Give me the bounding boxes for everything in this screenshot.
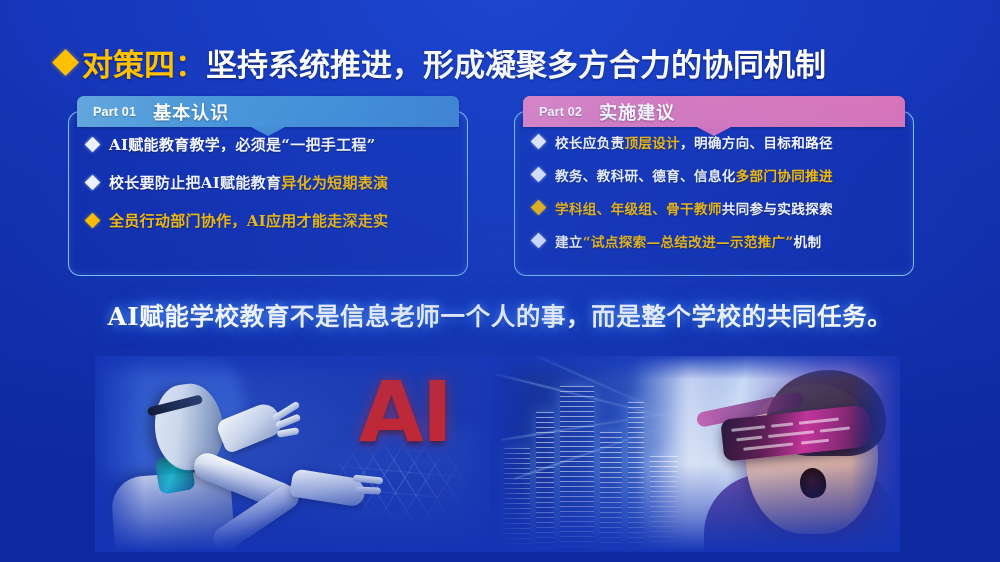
- bullet-text: AI赋能教育教学，必须是“一把手工程”: [109, 134, 376, 155]
- diamond-bullet-icon: [531, 167, 547, 183]
- part-title: 基本认识: [153, 99, 229, 125]
- panel-right-header: Part 02 实施建议: [523, 96, 905, 127]
- part-title: 实施建议: [599, 99, 675, 125]
- bullet-text-highlight: 全员行动部门协作，AI应用才能走深走实: [109, 210, 388, 231]
- header-notch-icon: [251, 127, 285, 136]
- diamond-bullet-icon: [531, 200, 547, 216]
- vr-photo-art: [490, 356, 900, 552]
- ai-overlay-text: AI: [359, 370, 451, 454]
- bullet-text-highlight: 学科组、年级组、骨干教师: [555, 198, 722, 218]
- diamond-bullet-icon: [531, 134, 547, 150]
- panel-left-header: Part 01 基本认识: [77, 96, 459, 127]
- photo-band: AI: [95, 356, 910, 552]
- bullet-text: 校长应负责: [555, 132, 624, 152]
- list-item: 建立 “试点探索—总结改进—示范推广” 机制: [533, 224, 905, 257]
- bullet-text-highlight: 顶层设计: [624, 132, 680, 152]
- robot-photo-art: AI: [95, 356, 505, 552]
- panel-basic-understanding: AI赋能教育教学，必须是“一把手工程” 校长要防止把AI赋能教育 异化为短期表演…: [68, 96, 468, 276]
- diamond-bullet-icon: [531, 233, 547, 249]
- title-gold-text: 对策四：: [82, 40, 206, 85]
- page-title: 对策四： 坚持系统推进，形成凝聚多方合力的协同机制: [56, 40, 826, 85]
- diamond-bullet-icon: [85, 136, 101, 152]
- robot-photo: AI: [95, 356, 505, 552]
- list-item: 全员行动部门协作，AI应用才能走深走实: [87, 201, 459, 239]
- title-white-text: 坚持系统推进，形成凝聚多方合力的协同机制: [206, 40, 826, 85]
- vr-photo: [490, 356, 900, 552]
- panel-left-bullet-list: AI赋能教育教学，必须是“一把手工程” 校长要防止把AI赋能教育 异化为短期表演…: [69, 112, 467, 275]
- bullet-text-highlight: 多部门协同推进: [736, 165, 833, 185]
- bullet-text: 教务、教科研、德育、信息化: [555, 165, 736, 185]
- bullet-text: 共同参与实践探索: [722, 198, 833, 218]
- panel-right-bullet-list: 校长应负责 顶层设计 ，明确方向、目标和路径 教务、教科研、德育、信息化 多部门…: [515, 112, 913, 275]
- tagline-text: AI赋能学校教育不是信息老师一个人的事，而是整个学校的共同任务。: [108, 302, 893, 331]
- bullet-text: 校长要防止把AI赋能教育: [109, 172, 281, 193]
- bullet-text: 机制: [794, 231, 822, 251]
- list-item: 校长要防止把AI赋能教育 异化为短期表演: [87, 163, 459, 201]
- diamond-bullet-icon: [85, 174, 101, 190]
- header-notch-icon: [697, 127, 731, 136]
- part-label: Part 01: [93, 105, 136, 119]
- bullet-text-highlight: 异化为短期表演: [281, 172, 388, 193]
- list-item: 教务、教科研、德育、信息化 多部门协同推进: [533, 158, 905, 191]
- slide-canvas: 对策四： 坚持系统推进，形成凝聚多方合力的协同机制 AI赋能教育教学，必须是“一…: [0, 0, 1000, 562]
- panel-implementation-advice: 校长应负责 顶层设计 ，明确方向、目标和路径 教务、教科研、德育、信息化 多部门…: [514, 96, 914, 276]
- list-item: 学科组、年级组、骨干教师 共同参与实践探索: [533, 191, 905, 224]
- bullet-text: 建立: [555, 231, 583, 251]
- title-diamond-icon: [52, 49, 79, 76]
- bullet-text-highlight: “试点探索—总结改进—示范推广”: [583, 231, 794, 251]
- tagline: AI赋能学校教育不是信息老师一个人的事，而是整个学校的共同任务。: [0, 298, 1000, 333]
- diamond-bullet-icon: [85, 212, 101, 228]
- part-label: Part 02: [539, 105, 582, 119]
